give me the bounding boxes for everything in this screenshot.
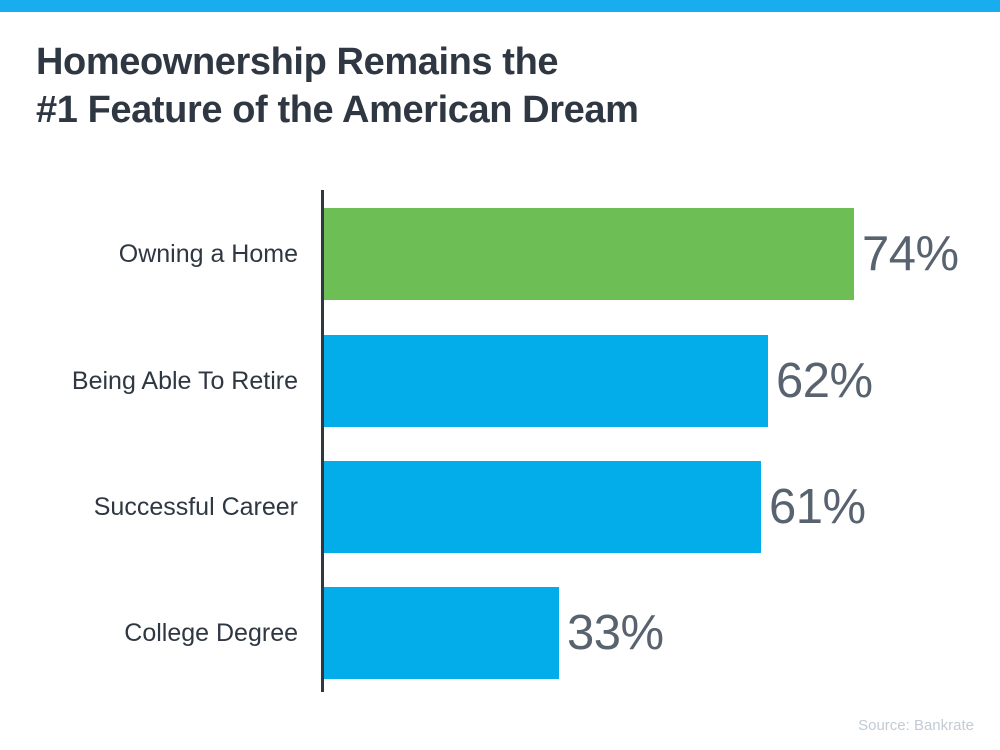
- bar-track: [324, 208, 854, 300]
- bar-value-label: 33%: [567, 587, 664, 679]
- bar-row: Successful Career 61%: [0, 461, 1000, 553]
- bar-track: [324, 335, 768, 427]
- bar-category-label: Owning a Home: [0, 208, 298, 300]
- bar-value-label: 74%: [862, 208, 959, 300]
- bar-value-label: 62%: [776, 335, 873, 427]
- bar-chart: Owning a Home 74% Being Able To Retire 6…: [0, 0, 1000, 750]
- bar-value-label: 61%: [769, 461, 866, 553]
- bar-row: Being Able To Retire 62%: [0, 335, 1000, 427]
- bar-row: College Degree 33%: [0, 587, 1000, 679]
- bar-fill: [324, 208, 854, 300]
- bar-fill: [324, 461, 761, 553]
- source-note: Source: Bankrate: [858, 717, 974, 734]
- bar-row: Owning a Home 74%: [0, 208, 1000, 300]
- bar-category-label: College Degree: [0, 587, 298, 679]
- bar-track: [324, 461, 761, 553]
- bar-fill: [324, 335, 768, 427]
- bar-category-label: Being Able To Retire: [0, 335, 298, 427]
- bar-category-label: Successful Career: [0, 461, 298, 553]
- bar-track: [324, 587, 559, 679]
- bar-fill: [324, 587, 559, 679]
